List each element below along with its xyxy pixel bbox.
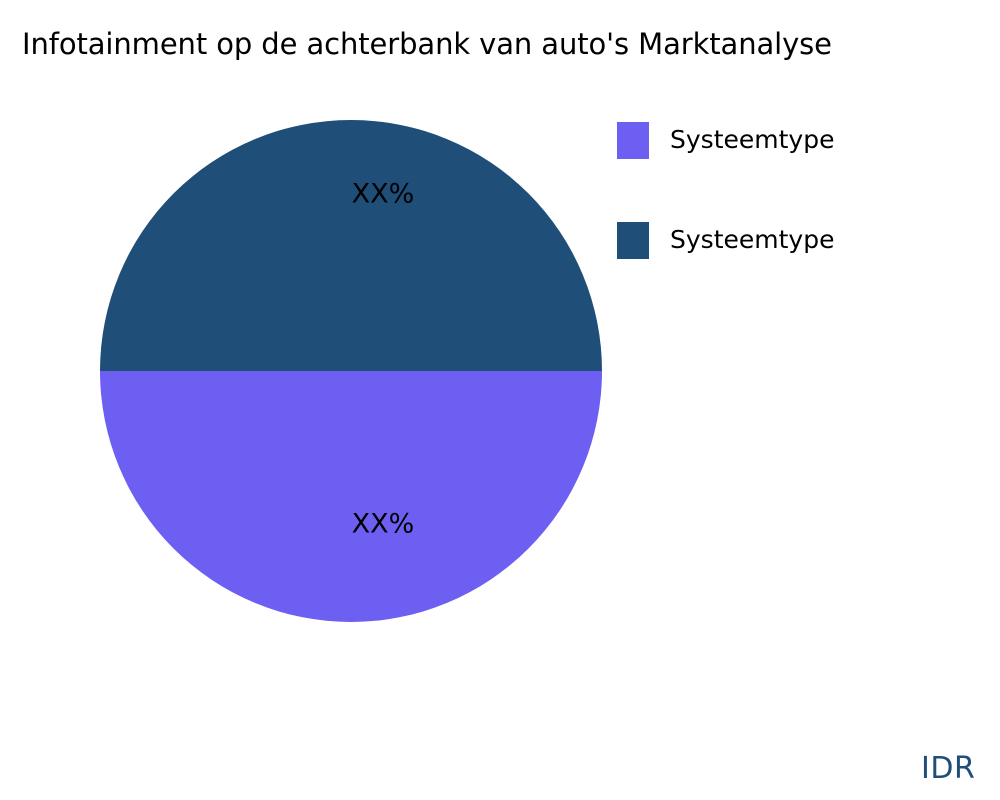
legend-item-label-1: Systeemtype xyxy=(670,224,834,256)
pie-chart: XX% XX% xyxy=(100,120,602,622)
legend-item-label-0: Systeemtype xyxy=(670,124,834,156)
chart-legend: Systeemtype Systeemtype xyxy=(617,118,977,318)
idr-watermark: IDR xyxy=(921,752,975,786)
chart-title: Infotainment op de achterbank van auto's… xyxy=(22,24,1000,64)
pie-chart-figure: Infotainment op de achterbank van auto's… xyxy=(0,0,1000,800)
legend-item-0[interactable]: Systeemtype xyxy=(617,118,977,218)
pie-slice-1[interactable] xyxy=(100,120,602,371)
legend-color-swatch-1 xyxy=(617,222,649,259)
pie-slice-0[interactable] xyxy=(100,371,602,622)
legend-color-swatch-0 xyxy=(617,122,649,159)
pie-svg xyxy=(100,120,602,622)
legend-item-1[interactable]: Systeemtype xyxy=(617,218,977,318)
